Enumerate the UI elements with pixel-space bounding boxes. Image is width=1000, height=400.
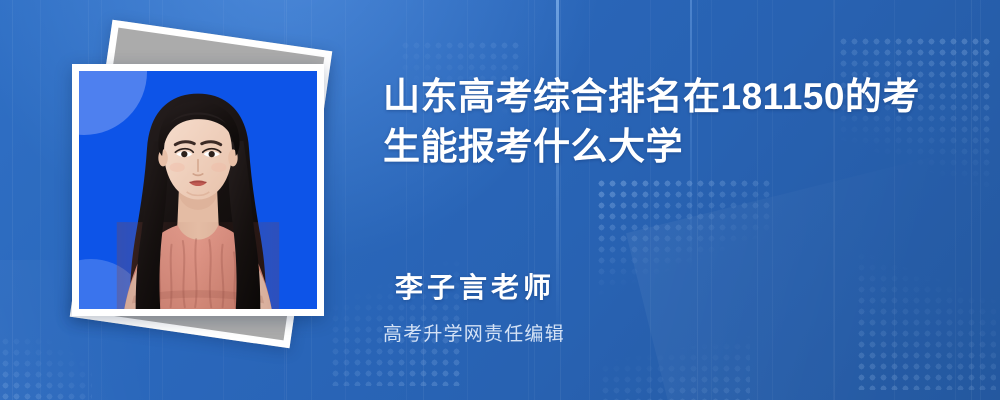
author-block: 李子言老师 高考升学网责任编辑	[383, 266, 803, 346]
author-role: 高考升学网责任编辑	[383, 319, 803, 346]
author-photo-stack	[56, 28, 356, 368]
author-name: 李子言老师	[383, 266, 803, 306]
author-photo	[79, 71, 317, 309]
article-header-banner: 山东高考综合排名在181150的考生能报考什么大学 李子言老师 高考升学网责任编…	[0, 0, 1000, 400]
banner-text-column: 山东高考综合排名在181150的考生能报考什么大学 李子言老师 高考升学网责任编…	[383, 0, 983, 400]
author-portrait-illustration	[79, 71, 317, 309]
author-photo-frame	[72, 64, 324, 316]
page-title: 山东高考综合排名在181150的考生能报考什么大学	[383, 72, 955, 172]
